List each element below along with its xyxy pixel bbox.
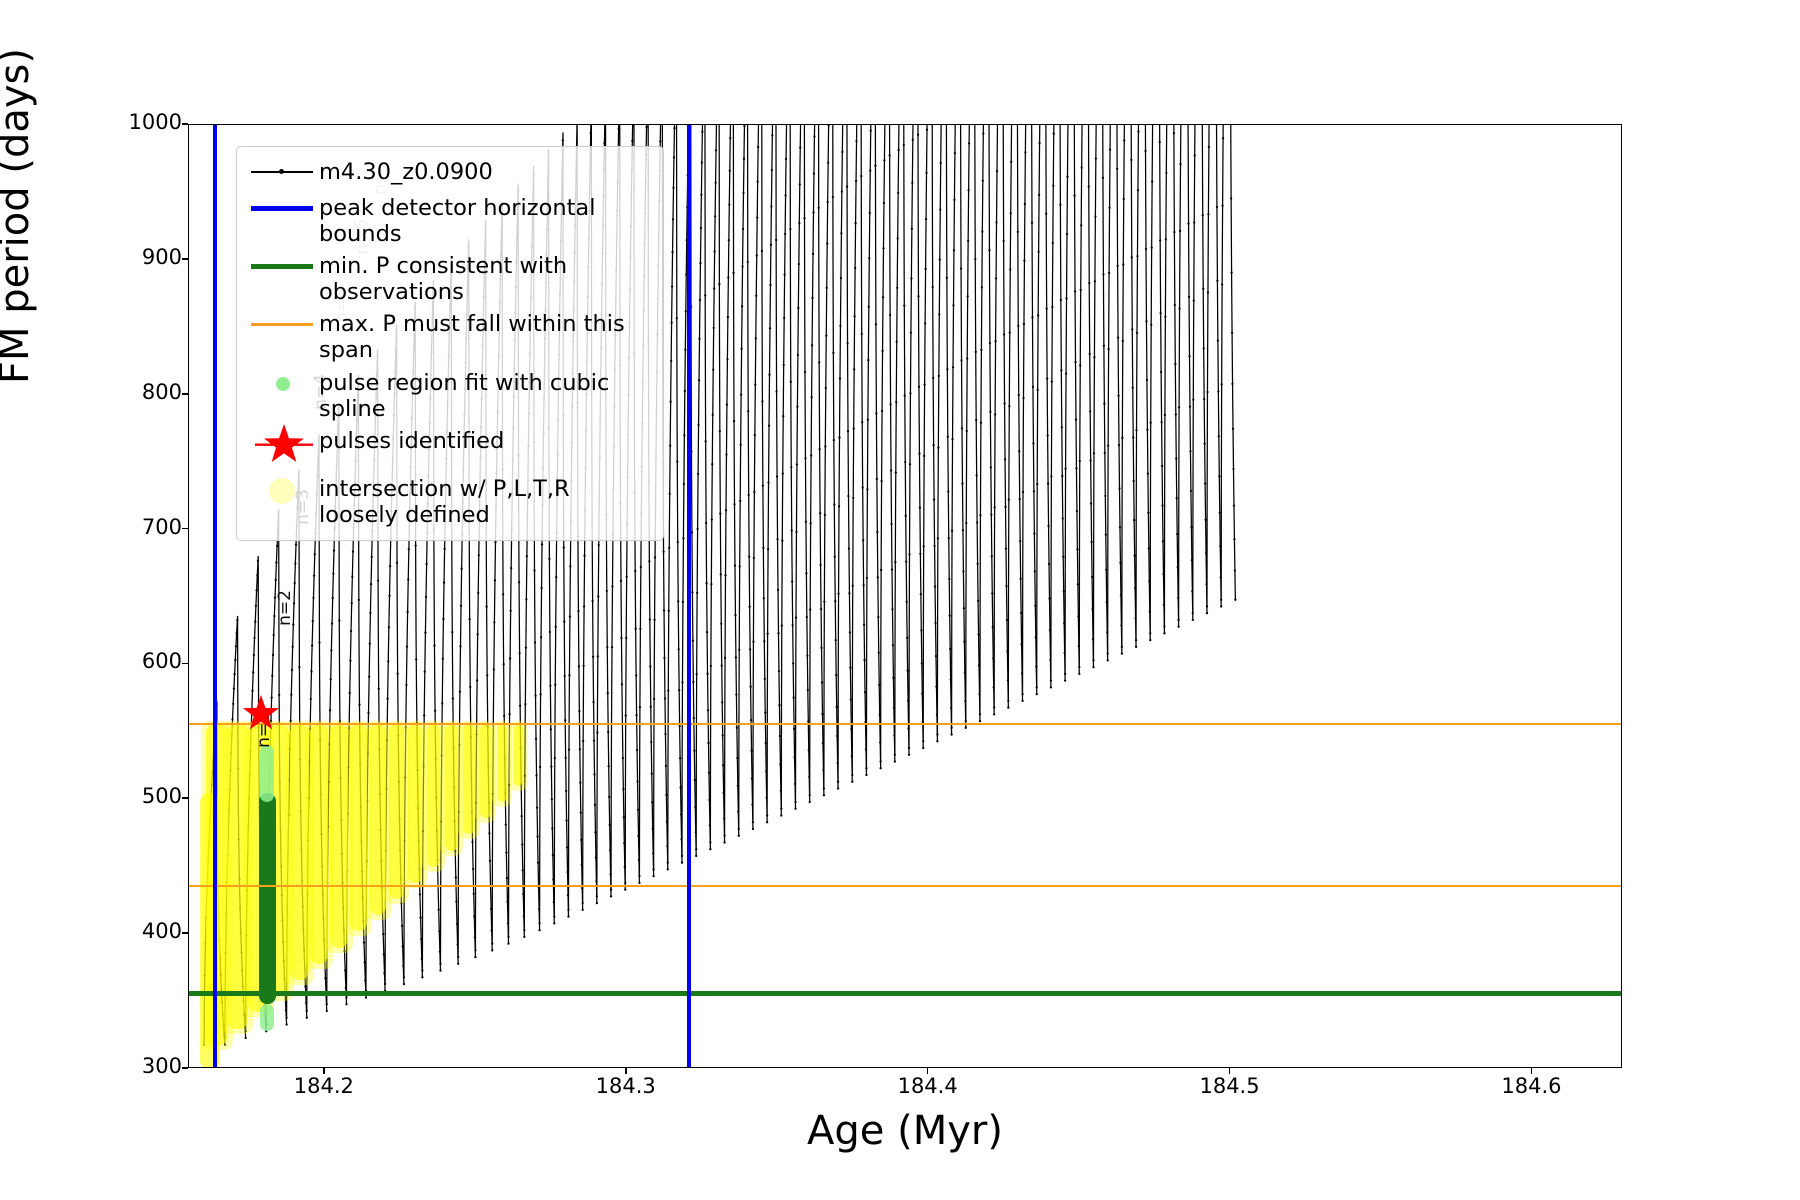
x-tick-label: 184.5 — [1199, 1074, 1259, 1098]
legend-item[interactable]: pulse region fit with cubic spline — [247, 366, 653, 422]
legend-item-label: intersection w/ P,L,T,R loosely defined — [319, 472, 570, 528]
legend-item[interactable]: max. P must fall within this span — [247, 307, 653, 363]
pulse-identified-star — [241, 694, 281, 734]
legend-key-dot-lightgreen — [247, 366, 319, 400]
legend[interactable]: m4.30_z0.0900peak detector horizontal bo… — [236, 146, 664, 541]
legend-item-label: min. P consistent with observations — [319, 249, 653, 305]
x-tick-label: 184.3 — [596, 1074, 656, 1098]
legend-item-label: pulses identified — [319, 424, 504, 454]
legend-key-star-red — [247, 424, 319, 458]
legend-item[interactable]: intersection w/ P,L,T,R loosely defined — [247, 472, 653, 528]
legend-item[interactable]: pulses identified — [247, 424, 653, 470]
legend-item-label: max. P must fall within this span — [319, 307, 653, 363]
legend-line-icon — [251, 206, 313, 211]
x-tick-label: 184.4 — [898, 1074, 958, 1098]
y-tick-label: 700 — [0, 515, 191, 539]
legend-item-label: m4.30_z0.0900 — [319, 155, 493, 185]
legend-key-line-green — [247, 249, 319, 283]
legend-item[interactable]: peak detector horizontal bounds — [247, 191, 653, 247]
legend-marker-dot-icon — [279, 169, 284, 174]
y-axis-title: FM period (days) — [0, 0, 38, 596]
legend-key-dot-paleyellow — [247, 472, 319, 506]
y-tick-label: 400 — [0, 919, 191, 943]
legend-item-label: pulse region fit with cubic spline — [319, 366, 653, 422]
y-tick-label: 900 — [0, 245, 191, 269]
legend-dot-icon — [269, 478, 295, 504]
x-tick-mark — [625, 1068, 627, 1074]
legend-key-line-black-marker — [247, 155, 319, 189]
x-tick-mark — [323, 1068, 325, 1074]
x-tick-mark — [927, 1068, 929, 1074]
legend-item[interactable]: min. P consistent with observations — [247, 249, 653, 305]
figure-canvas: FM period (days) Age (Myr) 3004005006007… — [0, 0, 1800, 1200]
y-tick-label: 500 — [0, 784, 191, 808]
y-tick-label: 800 — [0, 380, 191, 404]
legend-star-icon — [255, 422, 313, 468]
legend-key-line-blue — [247, 191, 319, 225]
x-tick-mark — [1229, 1068, 1231, 1074]
legend-line-icon — [251, 264, 313, 269]
x-axis-title: Age (Myr) — [188, 1108, 1622, 1154]
x-tick-mark — [1531, 1068, 1533, 1074]
pulse-index-annotation: n=2 — [275, 590, 295, 626]
y-tick-label: 1000 — [0, 110, 191, 134]
legend-line-icon — [251, 323, 313, 325]
legend-key-line-orange — [247, 307, 319, 341]
y-tick-label: 600 — [0, 649, 191, 673]
legend-item[interactable]: m4.30_z0.0900 — [247, 155, 653, 189]
legend-dot-icon — [276, 377, 290, 391]
x-tick-label: 184.2 — [294, 1074, 354, 1098]
x-tick-label: 184.6 — [1501, 1074, 1561, 1098]
legend-item-label: peak detector horizontal bounds — [319, 191, 653, 247]
y-tick-label: 300 — [0, 1054, 191, 1078]
